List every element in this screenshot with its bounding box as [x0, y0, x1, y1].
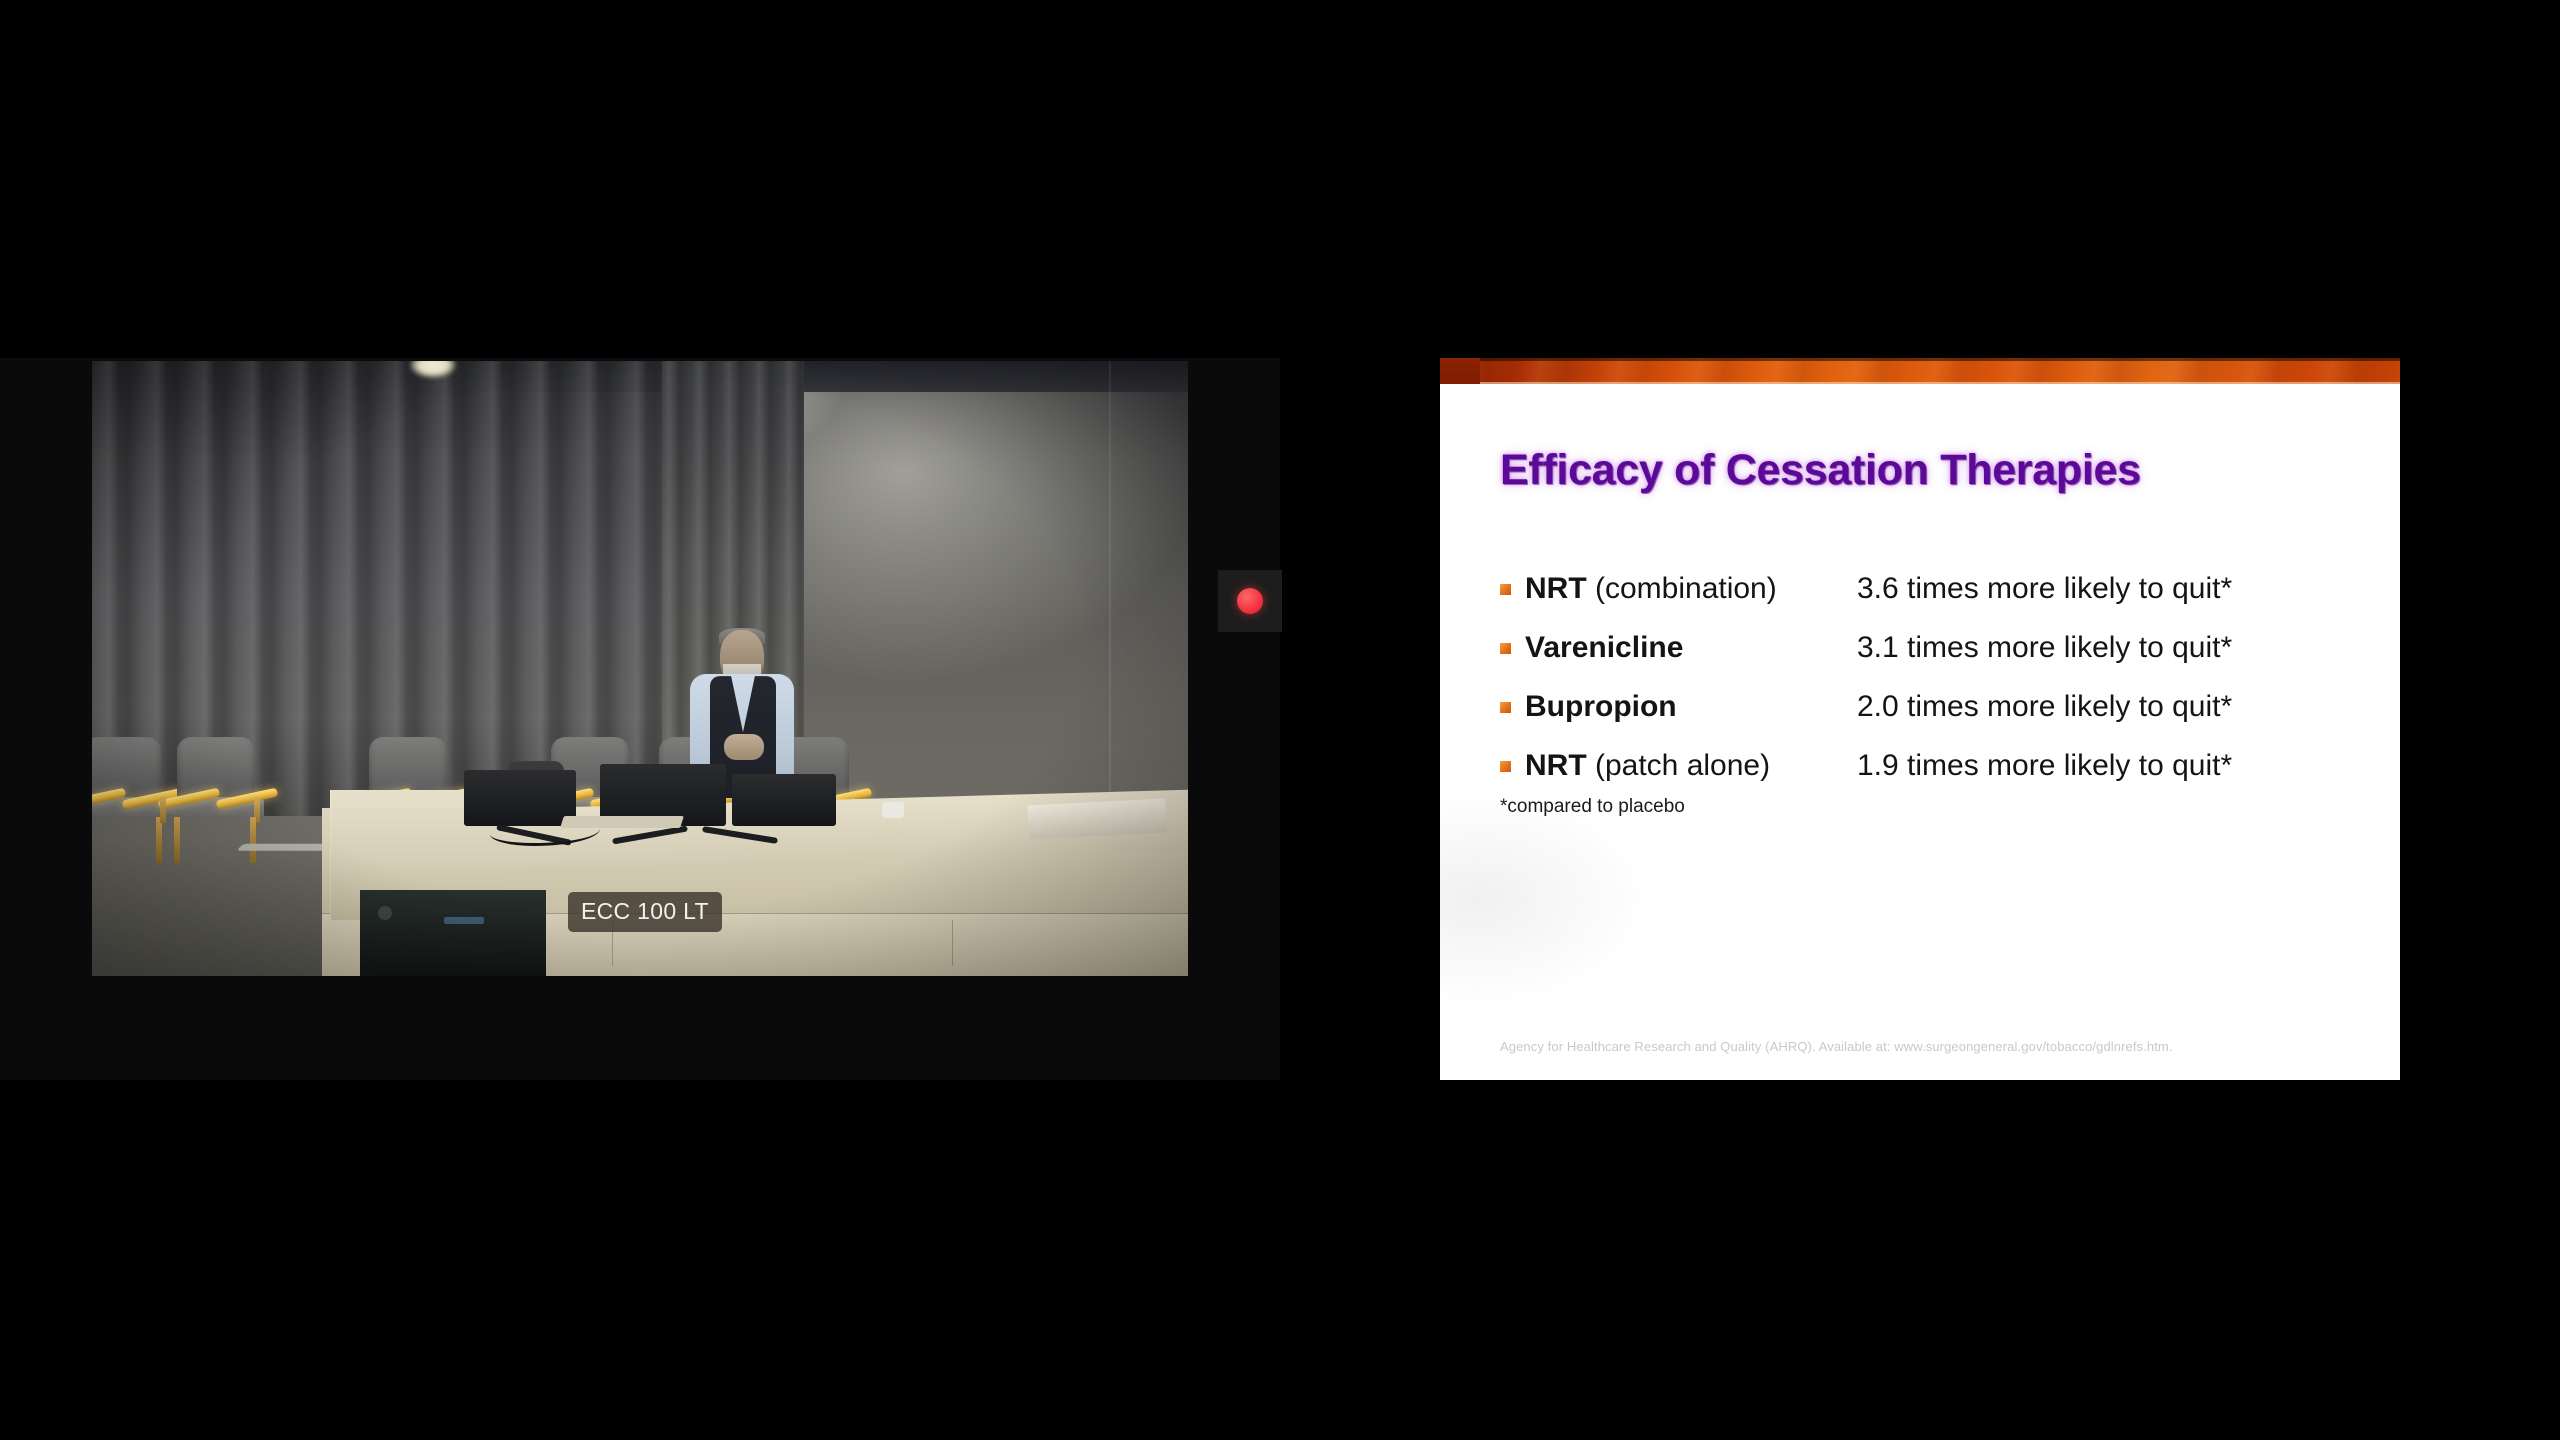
screen-root: ECC 100 LT RH 1763 Efficacy of Cessation…	[0, 0, 2560, 1440]
desk-keyboard	[560, 816, 684, 828]
square-bullet-icon	[1500, 643, 1511, 654]
therapy-name-bold: Bupropion	[1525, 690, 1677, 723]
slide-footnote: *compared to placebo	[1500, 796, 1685, 818]
camera-label: ECC 100 LT	[568, 892, 722, 932]
slide-title: Efficacy of Cessation Therapies	[1500, 446, 2141, 495]
therapy-name-bold: NRT	[1525, 572, 1587, 605]
list-item: Bupropion 2.0 times more likely to quit*	[1500, 690, 2370, 724]
record-indicator-tab[interactable]	[1218, 570, 1282, 632]
therapy-value: 3.1 times more likely to quit*	[1857, 631, 2232, 665]
square-bullet-icon	[1500, 702, 1511, 713]
slide-body: Efficacy of Cessation Therapies NRT (com…	[1440, 384, 2400, 1080]
list-item: NRT (combination) 3.6 times more likely …	[1500, 572, 2370, 606]
therapy-efficacy-list: NRT (combination) 3.6 times more likely …	[1500, 572, 2370, 808]
therapy-name-rest: (combination)	[1587, 572, 1777, 605]
wall-seam	[1109, 361, 1111, 792]
equipment-display	[444, 917, 484, 924]
slide-panel[interactable]: Efficacy of Cessation Therapies NRT (com…	[1440, 358, 2400, 1080]
desk-seam	[952, 920, 953, 966]
av-equipment-rack	[360, 890, 546, 976]
therapy-name: NRT (combination)	[1525, 572, 1857, 606]
slide-header-topline	[1440, 358, 2400, 361]
therapy-value: 2.0 times more likely to quit*	[1857, 690, 2232, 724]
therapy-name-rest: (patch alone)	[1587, 749, 1770, 782]
therapy-name: Varenicline	[1525, 631, 1857, 665]
video-frame[interactable]	[92, 361, 1188, 976]
desk-papers	[1027, 798, 1167, 839]
desk-monitor	[732, 774, 836, 826]
slide-header-band	[1440, 358, 2400, 384]
video-panel[interactable]: ECC 100 LT RH 1763	[0, 358, 1280, 1080]
therapy-value: 3.6 times more likely to quit*	[1857, 572, 2232, 606]
therapy-name-bold: NRT	[1525, 749, 1587, 782]
square-bullet-icon	[1500, 761, 1511, 772]
list-item: Varenicline 3.1 times more likely to qui…	[1500, 631, 2370, 665]
equipment-knob	[378, 906, 392, 920]
therapy-name: Bupropion	[1525, 690, 1857, 724]
desk-cup	[882, 802, 904, 818]
therapy-value: 1.9 times more likely to quit*	[1857, 749, 2232, 783]
therapy-name-bold: Varenicline	[1525, 631, 1683, 664]
slide-citation: Agency for Healthcare Research and Quali…	[1500, 1039, 2173, 1054]
therapy-name: NRT (patch alone)	[1525, 749, 1857, 783]
record-indicator-icon	[1237, 588, 1263, 614]
square-bullet-icon	[1500, 584, 1511, 595]
list-item: NRT (patch alone) 1.9 times more likely …	[1500, 749, 2370, 783]
slide-header-cap	[1440, 358, 1480, 384]
